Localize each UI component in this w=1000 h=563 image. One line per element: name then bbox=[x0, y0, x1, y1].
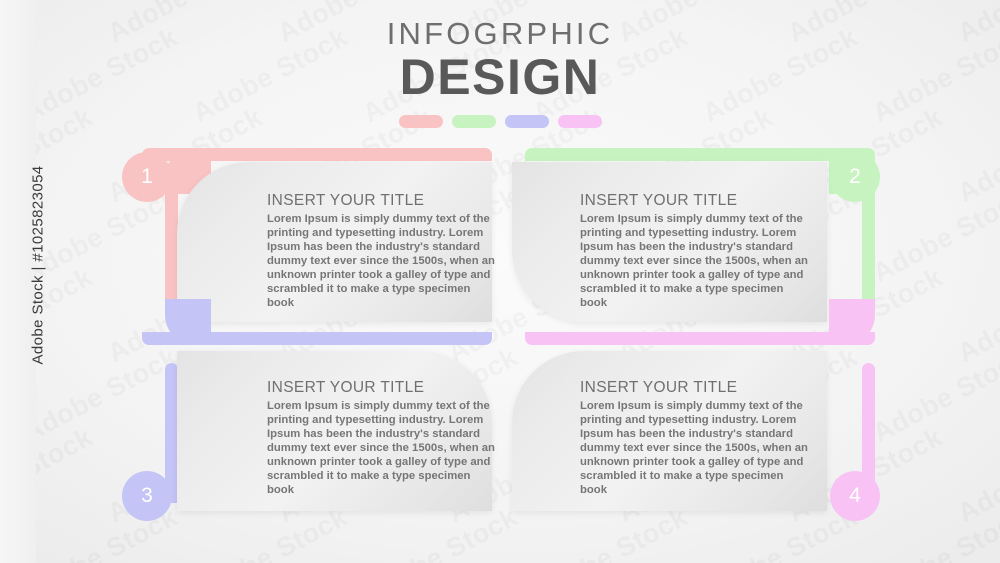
swatch-purple bbox=[505, 115, 549, 128]
stock-watermark: Adobe Stock bbox=[953, 422, 1000, 529]
card-1-content: INSERT YOUR TITLE Lorem Ipsum is simply … bbox=[267, 192, 495, 310]
card-4-content: INSERT YOUR TITLE Lorem Ipsum is simply … bbox=[580, 379, 808, 497]
card-4-title: INSERT YOUR TITLE bbox=[580, 379, 808, 397]
card-3-content: INSERT YOUR TITLE Lorem Ipsum is simply … bbox=[267, 379, 495, 497]
frame-bar bbox=[525, 148, 875, 161]
title-line-1: INFOGRPHIC bbox=[0, 18, 1000, 49]
card-1-title: INSERT YOUR TITLE bbox=[267, 192, 495, 210]
stock-id-label: Adobe Stock | #1025823054 bbox=[30, 85, 47, 365]
stock-watermark: Adobe Stock bbox=[953, 262, 1000, 369]
card-4-text: Lorem Ipsum is simply dummy text of the … bbox=[580, 399, 808, 497]
swatch-green bbox=[452, 115, 496, 128]
swatch-magenta bbox=[558, 115, 602, 128]
card-3-title: INSERT YOUR TITLE bbox=[267, 379, 495, 397]
infographic-canvas: Adobe StockAdobe StockAdobe StockAdobe S… bbox=[0, 0, 1000, 563]
card-2-panel: INSERT YOUR TITLE Lorem Ipsum is simply … bbox=[512, 162, 827, 322]
stock-spine: Adobe Stock | #1025823054 bbox=[0, 0, 36, 563]
card-2-text: Lorem Ipsum is simply dummy text of the … bbox=[580, 212, 808, 310]
card-2-content: INSERT YOUR TITLE Lorem Ipsum is simply … bbox=[580, 192, 808, 310]
card-1-text: Lorem Ipsum is simply dummy text of the … bbox=[267, 212, 495, 310]
swatch-pink bbox=[399, 115, 443, 128]
color-swatch-row bbox=[0, 115, 1000, 128]
step-number-badge-3: 3 bbox=[122, 471, 172, 521]
step-number-badge-1: 1 bbox=[122, 152, 172, 202]
card-3-text: Lorem Ipsum is simply dummy text of the … bbox=[267, 399, 495, 497]
card-2-title: INSERT YOUR TITLE bbox=[580, 192, 808, 210]
card-1-panel: INSERT YOUR TITLE Lorem Ipsum is simply … bbox=[177, 162, 492, 322]
info-card-4[interactable]: 4 INSERT YOUR TITLE Lorem Ipsum is simpl… bbox=[512, 345, 892, 525]
card-3-panel: INSERT YOUR TITLE Lorem Ipsum is simply … bbox=[177, 351, 492, 511]
title-line-2: DESIGN bbox=[0, 51, 1000, 104]
frame-bar bbox=[525, 332, 875, 345]
step-number-badge-4: 4 bbox=[830, 471, 880, 521]
header: INFOGRPHIC DESIGN bbox=[0, 18, 1000, 128]
step-number-badge-2: 2 bbox=[830, 152, 880, 202]
info-card-3[interactable]: 3 INSERT YOUR TITLE Lorem Ipsum is simpl… bbox=[112, 345, 492, 525]
card-4-panel: INSERT YOUR TITLE Lorem Ipsum is simply … bbox=[512, 351, 827, 511]
